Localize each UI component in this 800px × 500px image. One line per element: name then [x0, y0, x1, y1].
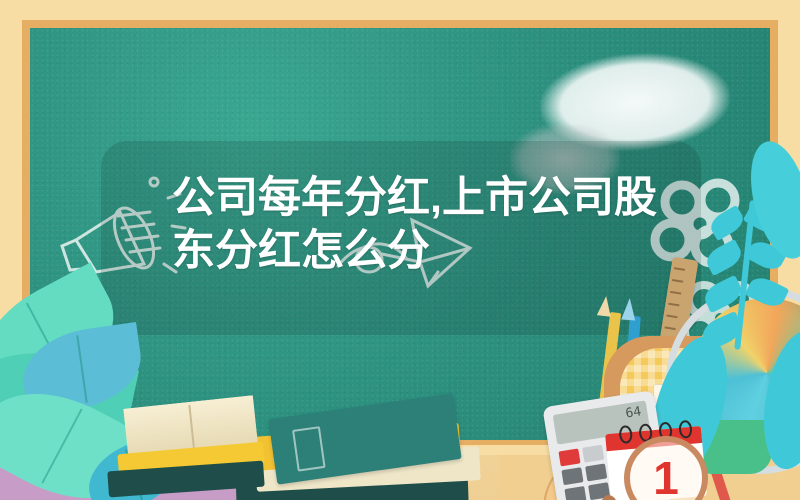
pencil-tip-icon	[597, 295, 613, 317]
calculator-display-value: 64	[625, 404, 643, 421]
paintbrush-tip-icon	[621, 298, 637, 321]
banner-image: 公司每年分红,上市公司股 东分红怎么分	[0, 0, 800, 500]
magnifier-icon: 1	[624, 436, 708, 500]
page-title: 公司每年分红,上市公司股 东分红怎么分	[172, 172, 692, 278]
calendar-day-number: 1	[630, 442, 702, 500]
